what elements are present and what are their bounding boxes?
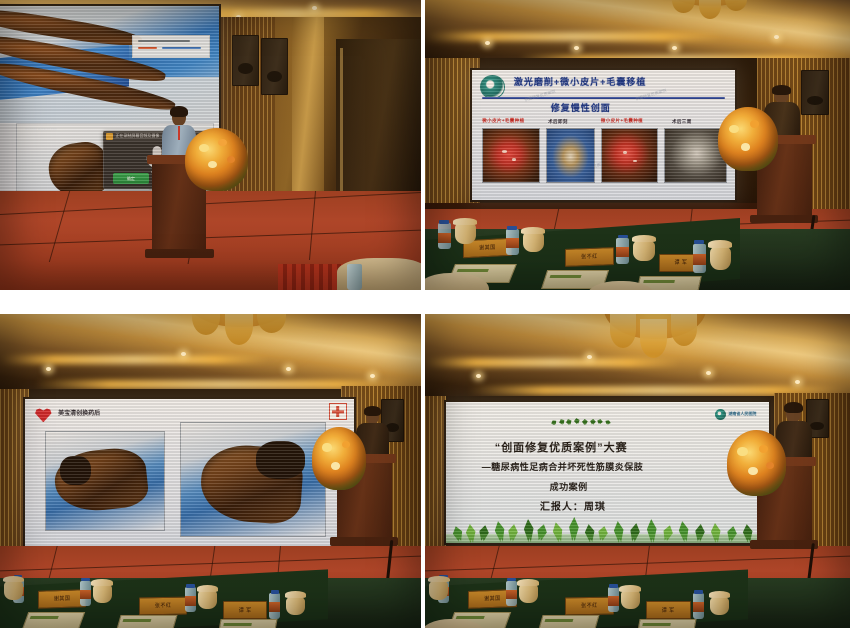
- document-sheet: [636, 619, 696, 628]
- flower: [729, 125, 739, 133]
- bottle-label: [506, 590, 517, 600]
- water-bottle: [506, 581, 517, 606]
- image-caption-1: 微小皮片+毛囊种植: [482, 118, 524, 124]
- clinical-image-1: [482, 128, 539, 182]
- chandelier-lobe: [610, 314, 637, 348]
- document-line: [642, 623, 670, 626]
- document-sheet: [217, 619, 277, 628]
- flower: [331, 462, 340, 470]
- confirm-button[interactable]: 确定: [113, 173, 149, 183]
- flower: [748, 467, 758, 475]
- document-sheet: [22, 612, 85, 628]
- wall-slats-br: [425, 396, 446, 553]
- bottle-label: [438, 233, 451, 243]
- tea-cup: [198, 590, 217, 609]
- flower-arrangement-tr: [718, 107, 778, 171]
- app-icon: [106, 133, 113, 140]
- bottle-label: [80, 590, 91, 600]
- overlay-line: [162, 47, 201, 49]
- flower: [208, 161, 217, 169]
- tea-cup: [4, 581, 23, 600]
- name-placard-2: 张不红: [565, 247, 614, 267]
- bottle-cap: [694, 590, 703, 594]
- bottle-label: [608, 596, 619, 606]
- speaker-cone-icon: [807, 96, 823, 106]
- stage-seam: [49, 191, 70, 262]
- bottle-label: [616, 247, 629, 257]
- document-sheet: [115, 615, 177, 628]
- hospital-logo-br: 湖南省人民医院: [715, 409, 756, 420]
- slide-title-rule: [482, 97, 724, 99]
- leaf-sprig-icon: [550, 417, 615, 425]
- image-caption-2: 术后即刻: [548, 119, 568, 125]
- name-placard-3: 谭 军: [223, 601, 267, 619]
- water-bottle: [616, 238, 629, 264]
- flower: [741, 143, 751, 151]
- placard-text: 谭 军: [675, 259, 688, 267]
- bottle-cap: [186, 584, 195, 588]
- stage-seam: [0, 229, 421, 245]
- downlight-icon: [587, 355, 592, 359]
- photo-watermark: HUAWEI MATE 30 PRO: [25, 127, 57, 131]
- tissue-speck: [502, 150, 506, 153]
- bottle-label: [269, 602, 280, 612]
- slide-title-tr: 激光磨削+微小皮片+毛囊移植: [514, 75, 647, 88]
- tea-cup-lid: [428, 576, 449, 583]
- lanyard: [178, 126, 180, 140]
- tea-cup: [455, 223, 476, 243]
- water-bottle: [608, 587, 619, 612]
- slide-title-line3: 成功案例: [550, 480, 588, 493]
- downlight-icon: [774, 35, 779, 39]
- slide-title-line1: “创面修复优质案例”大赛: [495, 439, 628, 455]
- document-line: [545, 620, 573, 623]
- speaker-cone-icon: [267, 71, 282, 82]
- document-line: [549, 275, 581, 278]
- tea-cup: [523, 232, 544, 252]
- document-line: [123, 620, 151, 623]
- bottle-cap: [609, 584, 618, 588]
- tea-cup-lid: [3, 576, 24, 583]
- flower: [737, 447, 747, 456]
- presenter-hair: [170, 106, 188, 117]
- tea-cup: [633, 241, 654, 261]
- name-placard-2: 张不红: [565, 596, 614, 615]
- clinical-foot-photo-right: [180, 422, 326, 536]
- cove-light-tr: [425, 32, 723, 41]
- chandelier-tr: [663, 0, 757, 6]
- hospital-logo-icon: [480, 75, 506, 99]
- conference-room-scene-tr: 激光磨削+微小皮片+毛囊移植 修复慢性创面 创面修复优质案例 创面修复优质案例 …: [425, 0, 850, 290]
- dialog-title: 正在录制屏幕音频及摄像…: [115, 133, 163, 139]
- bottle-label: [185, 596, 196, 606]
- overlay-line: [138, 47, 158, 49]
- conference-room-scene-br: 湖南省人民医院 “创面修复优质案例”大赛 —糖尿病性足病合并: [425, 314, 850, 628]
- podium-base-bl: [330, 537, 397, 546]
- flower: [342, 441, 350, 449]
- water-bottle: [80, 581, 91, 606]
- panel-bottom-right[interactable]: 湖南省人民医院 “创面修复优质案例”大赛 —糖尿病性足病合并: [425, 314, 850, 628]
- placard-text: 谢其国: [484, 595, 501, 604]
- tea-cup-lid: [197, 585, 218, 592]
- clinical-image-2: [546, 128, 595, 182]
- bottle-cap: [618, 235, 628, 239]
- red-cross-icon: [329, 403, 347, 420]
- tea-cup: [93, 584, 112, 603]
- panel-bottom-left[interactable]: 美宝清创换药后: [0, 314, 421, 628]
- loudspeaker-tl-2: [261, 38, 288, 95]
- flower: [199, 144, 209, 152]
- chandelier-bl: [185, 314, 294, 327]
- downlight-icon: [485, 41, 490, 45]
- document-line: [456, 269, 488, 272]
- cove-light-br: [425, 358, 680, 367]
- presenter-hair: [784, 402, 802, 413]
- tea-cup-lid: [708, 240, 732, 248]
- flower: [759, 445, 768, 453]
- loudspeaker-tr: [801, 70, 829, 116]
- flower: [218, 139, 227, 146]
- bottle-label: [693, 602, 704, 612]
- speaker-cone-icon: [810, 422, 824, 430]
- image-caption-4: 术后三周: [672, 119, 692, 125]
- tea-cup: [429, 581, 448, 600]
- clinical-foot-photo-left: [45, 431, 165, 530]
- bottle-cap: [439, 220, 449, 224]
- presenter-hair: [772, 85, 790, 94]
- tea-cup: [621, 590, 640, 609]
- chandelier-br: [604, 314, 706, 339]
- document-sheet: [537, 615, 599, 628]
- loudspeaker-tl-1: [232, 35, 259, 86]
- placard-text: 谭 军: [662, 606, 675, 614]
- led-screen-br: 湖南省人民医院 “创面修复优质案例”大赛 —糖尿病性足病合并: [446, 402, 769, 543]
- name-placard-2: 张不红: [139, 596, 187, 615]
- hospital-emblem-icon: [715, 409, 726, 420]
- bottle-label: [693, 254, 706, 265]
- bottle-cap: [507, 226, 517, 230]
- bottle-cap: [271, 590, 280, 594]
- document-line: [642, 280, 673, 282]
- flower-arrangement-tl: [185, 128, 248, 192]
- cove-light-bl: [0, 355, 269, 364]
- necrotic-tissue: [60, 456, 91, 485]
- water-bottle-tl: [347, 264, 362, 290]
- chandelier-lobe: [640, 319, 667, 358]
- flower: [766, 462, 774, 469]
- podium-base-br: [750, 540, 818, 549]
- image-caption-3: 微小皮片+毛囊种植: [601, 118, 643, 124]
- name-placard-1: 谢其国: [38, 589, 86, 608]
- stage-seam: [309, 191, 316, 260]
- tea-cup-lid: [517, 579, 538, 586]
- slide-subtitle-tr: 修复慢性创面: [551, 101, 611, 114]
- document-line: [224, 623, 252, 626]
- photo-collage: HUAWEI MATE 30 PRO 正在录制屏幕音频及摄像…: [0, 0, 850, 628]
- conference-room-scene-bl: 美宝清创换药后: [0, 314, 421, 628]
- clinical-image-3: [601, 128, 658, 182]
- bottle-cap: [81, 578, 90, 582]
- panel-top-right[interactable]: 激光磨削+微小皮片+毛囊移植 修复慢性创面 创面修复优质案例 创面修复优质案例 …: [425, 0, 850, 290]
- downlight-icon: [312, 6, 317, 10]
- stage-seam: [425, 555, 850, 571]
- tea-cup: [710, 597, 729, 616]
- tissue-speck: [512, 158, 516, 161]
- flower: [227, 156, 235, 163]
- led-screen-bl: 美宝清创换药后: [25, 399, 353, 547]
- tea-cup-lid: [91, 579, 112, 586]
- tissue-speck: [633, 160, 637, 163]
- panel-top-left[interactable]: HUAWEI MATE 30 PRO 正在录制屏幕音频及摄像…: [0, 0, 421, 290]
- leaf-border-decoration: [446, 509, 769, 543]
- placard-text: 谭 军: [239, 606, 252, 614]
- bottle-cap: [694, 240, 704, 244]
- flower-arrangement-br: [727, 430, 787, 496]
- slide-tr: 激光磨削+微小皮片+毛囊移植 修复慢性创面 创面修复优质案例 创面修复优质案例 …: [472, 70, 736, 201]
- overlay-line: [138, 40, 191, 42]
- downlight-icon: [706, 371, 711, 375]
- tea-cup-lid: [619, 585, 640, 592]
- tea-cup-lid: [709, 591, 730, 598]
- placard-text: 谢其国: [479, 244, 496, 253]
- slide-br: 湖南省人民医院 “创面修复优质案例”大赛 —糖尿病性足病合并: [446, 402, 769, 543]
- water-bottle: [506, 229, 519, 255]
- tissue-speck: [623, 151, 627, 154]
- slide-title-line2: —糖尿病性足病合并坏死性筋膜炎保肢: [482, 460, 644, 473]
- wall-left-br: [425, 396, 446, 553]
- water-bottle: [269, 593, 280, 618]
- document-line: [30, 616, 58, 619]
- foot-photo-left: [45, 139, 111, 200]
- name-placard-3: 谭 军: [646, 601, 691, 619]
- water-bottle: [693, 244, 706, 273]
- downlight-icon: [476, 374, 481, 378]
- downlight-icon: [181, 352, 186, 356]
- tea-cup: [710, 247, 731, 270]
- slide-header-bl: 美宝清创换药后: [58, 408, 100, 417]
- conference-room-scene-tl: HUAWEI MATE 30 PRO 正在录制屏幕音频及摄像…: [0, 0, 421, 290]
- water-bottle: [438, 223, 451, 249]
- placard-text: 谢其国: [54, 595, 71, 604]
- tea-cup: [286, 597, 305, 616]
- podium-base-tr: [750, 215, 818, 224]
- water-bottle: [185, 587, 196, 612]
- bottle-label: [506, 238, 519, 248]
- tea-cup-lid: [632, 235, 656, 242]
- flower: [750, 120, 759, 128]
- water-bottle: [693, 593, 704, 618]
- tea-cup: [519, 584, 538, 603]
- hospital-name: 湖南省人民医院: [728, 411, 756, 417]
- placard-text: 张不红: [155, 601, 172, 609]
- placard-text: 张不红: [581, 601, 598, 609]
- flower: [322, 443, 331, 451]
- tea-cup-lid: [453, 218, 477, 225]
- slide-bl: 美宝清创换药后: [25, 399, 353, 547]
- podium-base-tl: [145, 249, 214, 258]
- tea-cup-lid: [285, 591, 306, 598]
- downlight-icon: [795, 380, 800, 384]
- tea-cup-lid: [521, 227, 545, 234]
- bottle-cap: [507, 578, 516, 582]
- speaker-cone-icon: [238, 63, 253, 74]
- flower-arrangement-bl: [312, 427, 367, 490]
- presenter-hair: [364, 406, 381, 416]
- led-screen-tr: 激光磨削+微小皮片+毛囊移植 修复慢性创面 创面修复优质案例 创面修复优质案例 …: [472, 70, 736, 201]
- screen-overlay-bar: [132, 35, 209, 58]
- placard-text: 张不红: [581, 253, 598, 262]
- necrotic-tissue: [256, 441, 305, 479]
